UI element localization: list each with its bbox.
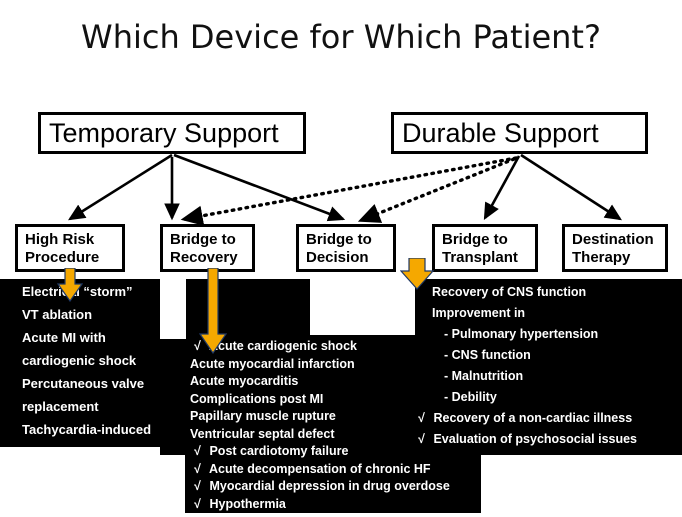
down-arrow-icon-bridge-recovery (199, 268, 227, 354)
check-icon: √ (418, 429, 430, 450)
box-high-risk-procedure-line1: High Risk (25, 231, 116, 249)
list-item-label: Post cardiotomy failure (206, 444, 348, 458)
list-item: √ Evaluation of psychosocial issues (418, 429, 680, 450)
list-item-label: Papillary muscle rupture (190, 409, 336, 423)
list-item: - Pulmonary hypertension (418, 324, 680, 345)
box-destination-therapy[interactable]: Destination Therapy (562, 224, 668, 272)
list-item-label: Hypothermia (206, 497, 286, 511)
check-icon: √ (194, 461, 206, 479)
box-bridge-to-decision-line2: Decision (306, 249, 387, 267)
indications-list-high-risk: Electrical “storm”VT ablationAcute MI wi… (22, 282, 182, 489)
box-bridge-to-decision-line1: Bridge to (306, 231, 387, 249)
box-durable-support-label: Durable Support (402, 118, 599, 149)
list-item-label: Myocardial depression in drug overdose (206, 479, 450, 493)
list-item: √ Recovery of a non-cardiac illness (418, 408, 680, 429)
list-item: Improvement in (418, 303, 680, 324)
list-item: replacement (22, 397, 182, 417)
list-item: - Debility (418, 387, 680, 408)
box-bridge-to-decision[interactable]: Bridge to Decision (296, 224, 396, 272)
box-bridge-to-recovery-line2: Recovery (170, 249, 246, 267)
list-item-label: - CNS function (444, 348, 531, 362)
box-high-risk-procedure[interactable]: High Risk Procedure (15, 224, 125, 272)
list-item-label: Evaluation of psychosocial issues (430, 432, 637, 446)
box-bridge-to-recovery[interactable]: Bridge to Recovery (160, 224, 255, 272)
list-item: cardiogenic shock (22, 351, 182, 371)
backdrop-cutout-bottom-right (481, 455, 682, 517)
list-item-label: Improvement in (432, 306, 525, 320)
list-item-label: Ventricular septal defect (190, 427, 335, 441)
box-destination-therapy-line1: Destination (572, 231, 659, 249)
list-item-label: Acute cardiogenic shock (206, 339, 357, 353)
list-item: Tachycardia-induced (22, 420, 182, 440)
list-item: ablation (22, 466, 182, 486)
list-item-label: Acute myocarditis (190, 374, 298, 388)
box-bridge-to-recovery-line1: Bridge to (170, 231, 246, 249)
box-durable-support[interactable]: Durable Support (391, 112, 648, 154)
list-item: - CNS function (418, 345, 680, 366)
box-temporary-support[interactable]: Temporary Support (38, 112, 306, 154)
list-item-label: - Pulmonary hypertension (444, 327, 598, 341)
page-title: Which Device for Which Patient? (0, 18, 682, 56)
list-item-label: - Debility (444, 390, 497, 404)
list-item-label: Recovery of CNS function (432, 285, 586, 299)
box-bridge-to-transplant-line1: Bridge to (442, 231, 529, 249)
down-arrow-icon-high-risk (57, 268, 83, 302)
box-high-risk-procedure-line2: Procedure (25, 249, 116, 267)
box-destination-therapy-line2: Therapy (572, 249, 659, 267)
list-item: Acute MI with (22, 328, 182, 348)
list-item: - Malnutrition (418, 366, 680, 387)
slide-canvas: Which Device for Which Patient? (0, 0, 682, 517)
list-item-label: Recovery of a non-cardiac illness (430, 411, 632, 425)
list-item-label: - Malnutrition (444, 369, 523, 383)
indications-list-bridge-to-transplant: Recovery of CNS functionImprovement in- … (418, 282, 680, 450)
box-bridge-to-transplant-line2: Transplant (442, 249, 529, 267)
list-item: Recovery of CNS function (418, 282, 680, 303)
list-item: VT ablation (22, 305, 182, 325)
list-item-label: Acute decompensation of chronic HF (206, 462, 431, 476)
list-item: Electrical “storm” (22, 282, 182, 302)
list-item: √ Acute decompensation of chronic HF (190, 461, 490, 479)
check-icon: √ (194, 443, 206, 461)
down-arrow-icon-bridge-transplant (400, 258, 434, 290)
list-item: √ Myocardial depression in drug overdose (190, 478, 490, 496)
check-icon: √ (194, 478, 206, 496)
list-item-label: Acute myocardial infarction (190, 357, 355, 371)
list-item: cardiomyopathy (22, 443, 182, 463)
box-bridge-to-transplant[interactable]: Bridge to Transplant (432, 224, 538, 272)
check-icon: √ (194, 496, 206, 514)
check-icon: √ (418, 408, 430, 429)
list-item: √ Hypothermia (190, 496, 490, 514)
list-item-label: Complications post MI (190, 392, 323, 406)
list-item: Percutaneous valve (22, 374, 182, 394)
box-temporary-support-label: Temporary Support (49, 118, 279, 149)
